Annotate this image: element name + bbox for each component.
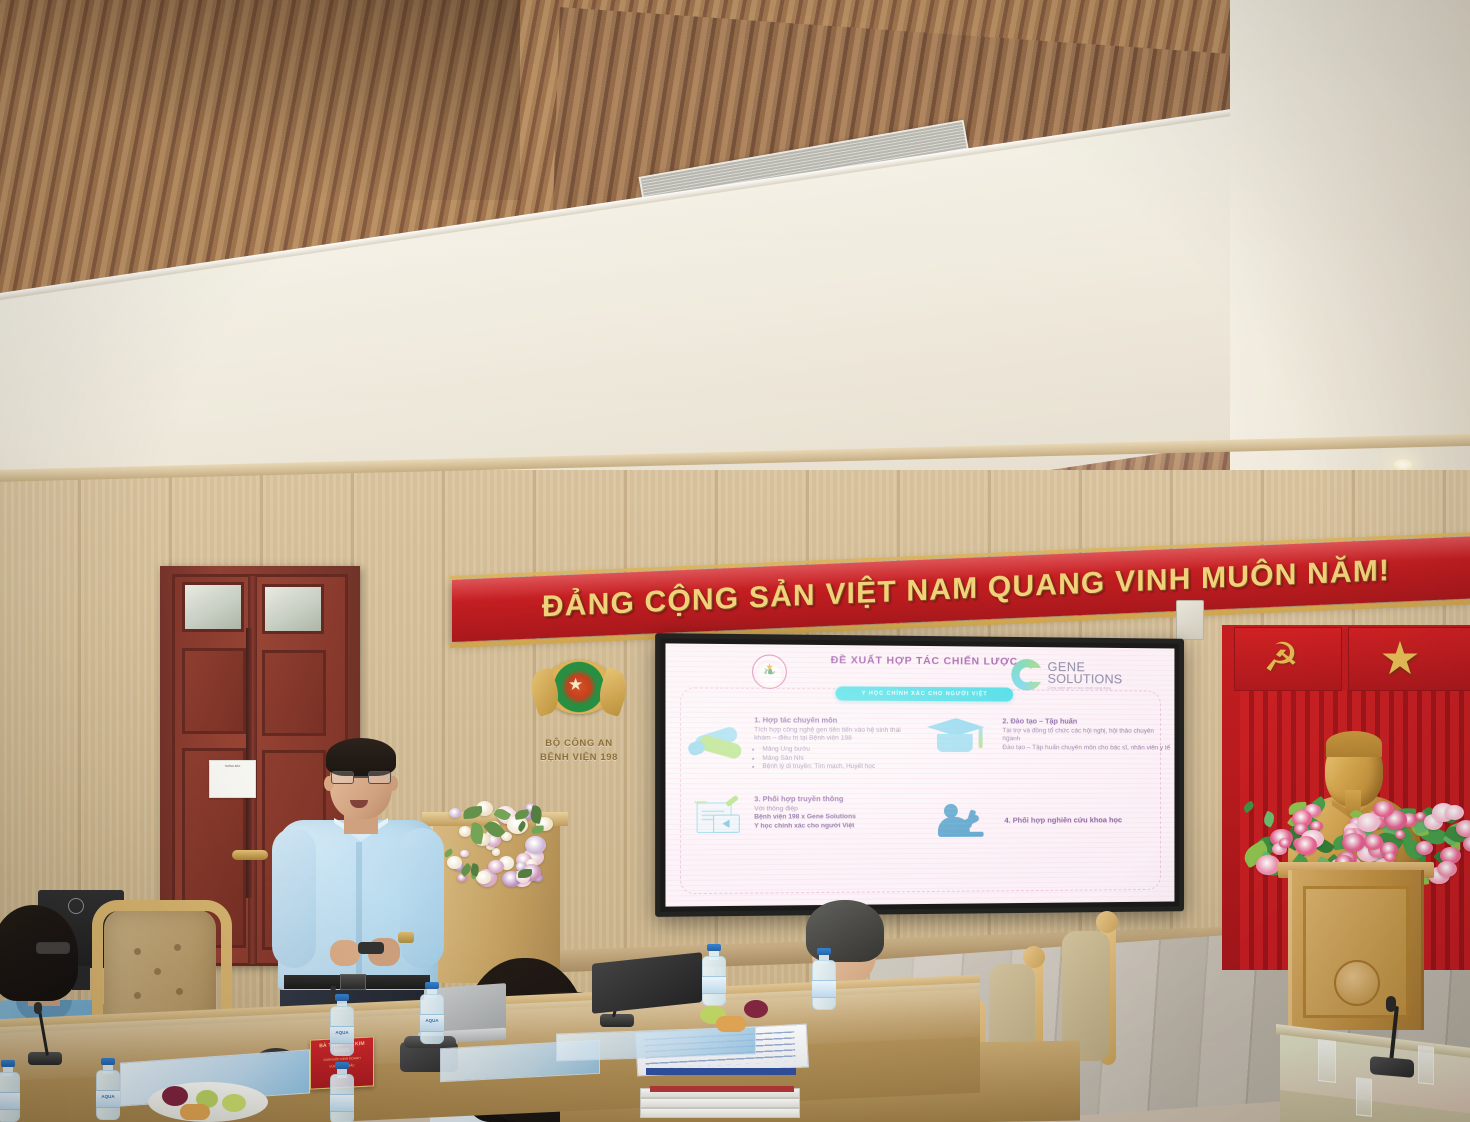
- slide-item-2-body: Tài trợ và đồng tổ chức các hội nghị, hộ…: [1002, 727, 1172, 745]
- water-bottle: AQUA: [420, 982, 444, 1044]
- slide-item-3-title: 3. Phối hợp truyền thông: [754, 794, 908, 803]
- bottle-label-text: AQUA: [330, 1030, 354, 1035]
- lotus-flower-icon: [1295, 836, 1318, 854]
- pedestal-lotus-medallion: [1334, 960, 1380, 1006]
- gene-wordmark: GENE SOLUTIONS Công nghệ gen vì sức khoẻ…: [1048, 660, 1123, 691]
- slide-item-2: 2. Đào tạo – Tập huấn Tài trợ và đồng tổ…: [1002, 716, 1172, 753]
- flower-icon: [449, 808, 461, 819]
- slide-tagline-pill: Y HỌC CHÍNH XÁC CHO NGƯỜI VIỆT: [836, 686, 1014, 701]
- glass-name-holder: [1418, 1045, 1434, 1085]
- presenter-left-arm: [272, 828, 316, 968]
- gooseneck-microphone-base[interactable]: [1370, 1056, 1414, 1078]
- slide-item-3-bold2: Y học chính xác cho người Việt: [754, 822, 908, 832]
- lotus-flower-icon: [1456, 820, 1470, 837]
- news-label: NEWS: [694, 799, 706, 804]
- door-panel: [182, 648, 246, 734]
- slide-item-2-title: 2. Đào tạo – Tập huấn: [1002, 716, 1172, 726]
- lotus-flower-icon: [1384, 852, 1396, 862]
- slide-item-1-bullets: Mảng Ung bướu Mảng Sản Nhi Bệnh lý di tr…: [762, 745, 908, 772]
- document-binder-red: [650, 1086, 794, 1092]
- list-item: Mảng Ung bướu: [762, 745, 908, 754]
- slide-item-1: 1. Hợp tác chuyên môn Tích hợp công nghệ…: [754, 715, 908, 772]
- slide-item-4: 4. Phối hợp nghiên cứu khoa học: [1004, 815, 1171, 826]
- lotus-flower-icon: [1279, 838, 1291, 848]
- eyeglasses-icon: [331, 771, 391, 784]
- ceiling-shadow: [0, 0, 520, 200]
- emblem-label-line1: BỘ CÔNG AN: [523, 738, 635, 749]
- slide-item-3: 3. Phối hợp truyền thông Với thông điệp …: [754, 794, 908, 832]
- eyeglasses-icon: [36, 942, 70, 954]
- glass-name-holder: [1356, 1077, 1372, 1117]
- lotus-flower-icon: [1445, 805, 1463, 820]
- hammer-and-sickle-icon: ☭: [1252, 636, 1310, 680]
- shirt-placket: [356, 842, 362, 990]
- news-media-icon: NEWS: [690, 796, 748, 837]
- bust-hair: [1326, 731, 1382, 757]
- wristwatch: [398, 932, 414, 943]
- door-panel: [262, 650, 326, 736]
- slide-item-4-title: 4. Phối hợp nghiên cứu khoa học: [1004, 815, 1171, 824]
- lotus-flower-icon: [1342, 833, 1365, 852]
- slide-item-1-title: 1. Hợp tác chuyên môn: [754, 715, 908, 725]
- fruit-slice: [716, 1016, 746, 1032]
- gene-logo-mark-icon: [1011, 659, 1042, 691]
- monitor-brand-logo-icon: [68, 898, 84, 914]
- door-handle[interactable]: [232, 850, 268, 860]
- logo-star-icon: ★: [765, 662, 773, 673]
- presenter-left-hand: [330, 940, 360, 966]
- water-bottle: [812, 948, 836, 1010]
- researcher-microscope-icon: [938, 802, 986, 844]
- slide-item-1-body: Tích hợp công nghệ gen tiên tiến vào hệ …: [754, 726, 908, 744]
- door-glass-panel: [182, 582, 244, 632]
- fruit-plum: [162, 1086, 188, 1106]
- water-bottle: [702, 944, 726, 1006]
- graduation-cap-icon: [925, 714, 987, 760]
- leaf-icon: [532, 826, 544, 834]
- lotus-flower-icon: [1437, 861, 1457, 877]
- gooseneck-microphone-head: [1386, 996, 1396, 1012]
- lotus-flower-icon: [1463, 836, 1470, 852]
- presentation-display: ĐỀ XUẤT HỢP TÁC CHIẾN LƯỢC ★ ❧ GENE SOLU…: [655, 633, 1184, 917]
- slide-item-3-body: Với thông điệp: [754, 805, 908, 814]
- document-binder-blue: [646, 1068, 796, 1075]
- handshake-icon: [688, 721, 746, 762]
- water-bottle: AQUA: [330, 994, 354, 1056]
- door-notice-sign: THÔNG BÁO: [209, 760, 256, 798]
- flower-bouquet: [438, 800, 548, 890]
- fruit-plum: [744, 1000, 768, 1018]
- presenter-remote-clicker[interactable]: [358, 942, 384, 954]
- flower-icon: [525, 836, 546, 854]
- conference-room-photo: ĐẢNG CỘNG SẢN VIỆT NAM QUANG VINH MUÔN N…: [0, 0, 1470, 1122]
- fruit-slice: [180, 1104, 210, 1120]
- wall-speaker-icon: [1176, 600, 1204, 640]
- slide-item-2-body2: Đào tạo – Tập huấn chuyên môn cho bác sĩ…: [1002, 744, 1172, 753]
- leaf-icon: [1242, 801, 1256, 814]
- police-hospital-emblem: ★: [532, 660, 626, 730]
- emblem-label-line2: BỆNH VIỆN 198: [523, 752, 635, 763]
- gene-solutions-logo: GENE SOLUTIONS Công nghệ gen vì sức khoẻ…: [1011, 657, 1157, 694]
- leaf-icon: [1261, 810, 1276, 827]
- bottle-label-text: AQUA: [420, 1018, 444, 1023]
- fruit-grape: [222, 1094, 246, 1112]
- lotus-flower-icon: [1416, 841, 1433, 855]
- water-bottle: AQUA: [96, 1058, 120, 1120]
- flower-icon: [459, 826, 472, 837]
- flower-icon: [447, 856, 462, 869]
- flower-icon: [460, 850, 468, 857]
- slide-content: ĐỀ XUẤT HỢP TÁC CHIẾN LƯỢC ★ ❧ GENE SOLU…: [665, 643, 1174, 906]
- bottle-label-text: AQUA: [96, 1094, 120, 1099]
- presenter-right-arm: [400, 828, 444, 968]
- door-glass-panel: [262, 584, 324, 634]
- flower-icon: [488, 860, 504, 873]
- lotus-flower-icon: [1364, 834, 1383, 849]
- list-item: Bệnh lý di truyền: Tim mạch, Huyết học: [762, 763, 908, 772]
- lotus-flower-icon: [1256, 855, 1280, 874]
- glass-name-holder: [1318, 1039, 1336, 1083]
- belt-buckle: [340, 974, 366, 990]
- hospital-logo-icon: ★ ❧: [752, 654, 787, 689]
- gene-logo-line2: SOLUTIONS: [1048, 672, 1123, 685]
- lotus-flower-icon: [1357, 813, 1380, 832]
- water-bottle: [330, 1062, 354, 1122]
- leaf-icon: [462, 806, 482, 820]
- water-bottle: [0, 1060, 20, 1122]
- gold-star-icon: ★: [1374, 634, 1426, 682]
